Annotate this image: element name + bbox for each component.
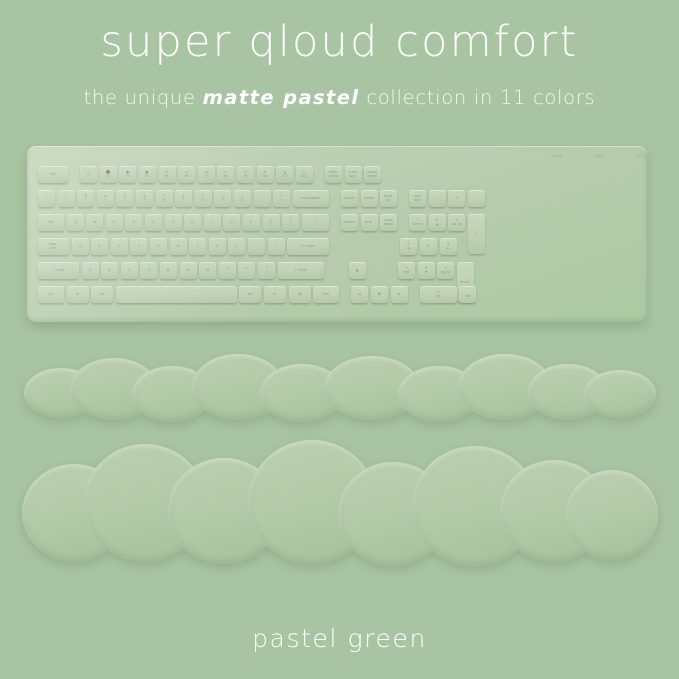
key-label: * [456, 197, 458, 201]
key-blank[interactable]: + [468, 214, 485, 254]
key-label: J [197, 245, 198, 249]
key-label: X [108, 269, 110, 273]
key-0-ins[interactable]: 0 ins [420, 286, 457, 303]
key-label: V [148, 269, 150, 273]
key-c[interactable]: C [121, 262, 138, 279]
key-v[interactable]: V [140, 262, 157, 279]
key-label: page up [384, 195, 392, 202]
key-enter[interactable]: ↵ enter [287, 238, 329, 255]
key-label: ⏮ f5 [165, 171, 168, 178]
key-label: Y [172, 221, 174, 225]
key-label: H [177, 245, 180, 249]
keyboard-product-image: ◦ num◦ caps◦ scroll esc♪ f1🔇 f2🔉 f3🔊 f4⏮… [27, 146, 647, 322]
key-label: alt [248, 293, 253, 297]
key-label: I [212, 221, 213, 225]
key-caps-lock[interactable]: caps lock [38, 238, 69, 255]
key-label: prtsc sysrq [329, 171, 338, 178]
key-label: W [93, 221, 97, 225]
key-blank[interactable]: ▲ [349, 262, 366, 279]
key-gap [410, 286, 417, 303]
key--f3[interactable]: 🔉 f3 [119, 166, 136, 183]
key-label: ⏭ f7 [205, 171, 208, 178]
key-l[interactable]: L [228, 238, 245, 255]
key-label: Q [74, 221, 77, 225]
key-label: . del [465, 291, 470, 298]
key--[interactable]: } ] [282, 214, 299, 231]
key-label: ? / [266, 267, 268, 274]
key-alt[interactable]: alt [91, 286, 113, 303]
led-caps-icon: ◦ caps [590, 153, 604, 158]
key-space[interactable] [116, 286, 237, 303]
key-page-down[interactable]: page down [380, 214, 397, 231]
key-label: 🔍 f11 [282, 171, 287, 178]
key-label: 4 ◄ [408, 243, 411, 250]
key-label: ▼ [378, 293, 381, 297]
key-m[interactable]: M [199, 262, 216, 279]
key-alt[interactable]: alt [239, 286, 261, 303]
key--5[interactable]: % 5 [136, 190, 153, 207]
key-label: ) 0 [241, 195, 243, 202]
key-label: ☀ f8 [224, 171, 227, 178]
key--2[interactable]: @ 2 [77, 190, 94, 207]
key--6[interactable]: ^ 6 [156, 190, 173, 207]
key-label: ⏯ f6 [185, 171, 188, 178]
key-2-[interactable]: 2 ▼ [418, 262, 435, 279]
key-label: @ 2 [84, 195, 87, 202]
key-label: T [152, 221, 154, 225]
key-label: ! 1 [65, 195, 67, 202]
key--f7[interactable]: ⏭ f7 [198, 166, 215, 183]
key-o[interactable]: O [223, 214, 240, 231]
key--0[interactable]: ) 0 [234, 190, 251, 207]
key-label: ♪ f1 [87, 171, 90, 178]
key--[interactable]: ? / [258, 262, 275, 279]
key-delete[interactable]: delete [341, 214, 358, 231]
key-label: Z [89, 269, 91, 273]
key-label: + [475, 232, 478, 236]
key-p[interactable]: P [243, 214, 260, 231]
key-label: ✉ f10 [262, 171, 267, 178]
key-blank[interactable]: ► [391, 286, 408, 303]
subtitle-prefix: the unique [84, 86, 203, 109]
colorway-caption: pastel green [0, 624, 679, 653]
key-label: ▤ [298, 293, 301, 297]
key-3-pgdn[interactable]: 3 pg dn [437, 262, 454, 279]
key--3[interactable]: # 3 [97, 190, 114, 207]
key-label: A [79, 245, 81, 249]
key-label: - [476, 197, 477, 201]
key-blank[interactable]: ▤ [289, 286, 311, 303]
key-fn[interactable]: fn [264, 286, 286, 303]
key--f12[interactable]: ⌂ f12 [296, 166, 313, 183]
key-label: : ; [256, 243, 257, 250]
key-label: 0 ins [436, 291, 441, 298]
page-title: super qloud comfort [0, 20, 679, 65]
key-label: * 8 [202, 195, 204, 202]
key-ctrl[interactable]: ctrl [38, 286, 64, 303]
key--[interactable]: > . [238, 262, 255, 279]
key--f2[interactable]: 🔇 f2 [100, 166, 117, 183]
key-label: delete [344, 221, 355, 225]
key-x[interactable]: X [101, 262, 118, 279]
key-1-end[interactable]: 1 end [398, 262, 415, 279]
key-gap [332, 238, 398, 255]
key-a[interactable]: A [72, 238, 89, 255]
key-label: E [113, 221, 115, 225]
key--[interactable]: ~ ` [38, 190, 55, 207]
key-label: ⊞ [76, 293, 79, 297]
key--9[interactable]: ( 9 [214, 190, 231, 207]
key-label: 6 ► [447, 243, 450, 250]
cloud-bump [584, 370, 656, 418]
key-label: / [437, 197, 438, 201]
key--f6[interactable]: ⏯ f6 [178, 166, 195, 183]
key-6-[interactable]: 6 ► [440, 238, 457, 255]
key-num-lock[interactable]: num lock [409, 190, 426, 207]
subtitle-suffix: collection in 11 colors [359, 86, 595, 109]
key-s[interactable]: S [91, 238, 108, 255]
key-label: alt [100, 293, 105, 297]
key-label: end [366, 221, 373, 225]
keyboard-row: esc♪ f1🔇 f2🔉 f3🔊 f4⏮ f5⏯ f6⏭ f7☀ f8☀ f9✉… [38, 166, 384, 183]
key--f9[interactable]: ☀ f9 [237, 166, 254, 183]
key-u[interactable]: U [184, 214, 201, 231]
key--[interactable]: < , [219, 262, 236, 279]
key-tab[interactable]: tab [38, 214, 64, 231]
key--f11[interactable]: 🔍 f11 [276, 166, 293, 183]
key-8-[interactable]: 8 ▲ [429, 214, 446, 231]
key--[interactable]: " ' [268, 238, 285, 255]
key-label: 8 ▲ [436, 219, 439, 226]
subtitle-emphasis: matte pastel [203, 86, 360, 109]
key-b[interactable]: B [160, 262, 177, 279]
key-w[interactable]: W [86, 214, 103, 231]
key-label: B [167, 269, 169, 273]
key--del[interactable]: . del [459, 286, 476, 303]
key-scroll-lock[interactable]: scroll lock [345, 166, 362, 183]
key-label: G [157, 245, 160, 249]
key-d[interactable]: D [111, 238, 128, 255]
key-label: O [230, 221, 233, 225]
subtitle: the unique matte pastel collection in 11… [0, 86, 679, 109]
key-label: 2 ▼ [425, 267, 428, 274]
key-shift[interactable]: ⇧ shift [38, 262, 79, 279]
key-label: | \ [315, 219, 316, 226]
key---[interactable]: _ - [254, 190, 271, 207]
key--7[interactable]: & 7 [175, 190, 192, 207]
key--f8[interactable]: ☀ f8 [217, 166, 234, 183]
key-label: & 7 [182, 195, 185, 202]
led-scroll-icon: ◦ scroll [631, 153, 647, 158]
key-gap [71, 166, 78, 183]
key-r[interactable]: R [125, 214, 142, 231]
key-label: F [138, 245, 140, 249]
key-label: home [364, 197, 374, 201]
key-label: num lock [414, 195, 421, 202]
key-label: scroll lock [349, 171, 358, 178]
key-gap [400, 190, 407, 207]
key-label: ► [398, 293, 401, 297]
key-esc[interactable]: esc [38, 166, 68, 183]
key-label: U [191, 221, 194, 225]
key-label: ☀ f9 [244, 171, 247, 178]
keyboard-row: ctrl⊞altaltfn▤ctrl◄▼►0 ins. del [38, 286, 479, 303]
key-label: ~ ` [45, 195, 48, 202]
key--[interactable]: | \ [302, 214, 329, 231]
key-blank[interactable]: * [448, 190, 465, 207]
cloud-bump [566, 470, 658, 560]
key-t[interactable]: T [145, 214, 162, 231]
key-label: ctrl [323, 293, 329, 297]
key-label: ◄ [358, 293, 361, 297]
key-f[interactable]: F [130, 238, 147, 255]
key-label: S [99, 245, 101, 249]
key-backspace[interactable]: backspace [293, 190, 329, 207]
key--[interactable]: - [468, 190, 485, 207]
key-label: % 5 [143, 195, 146, 202]
key-label: esc [50, 173, 56, 177]
key-label: _ - [261, 195, 263, 202]
key-gap [331, 190, 338, 207]
key-z[interactable]: Z [82, 262, 99, 279]
key-label: 1 end [403, 267, 409, 274]
key--f4[interactable]: 🔊 f4 [139, 166, 156, 183]
key--f10[interactable]: ✉ f10 [257, 166, 274, 183]
key-label: ↵ enter [301, 245, 315, 249]
key--f5[interactable]: ⏮ f5 [159, 166, 176, 183]
key-blank[interactable]: ⊞ [67, 286, 89, 303]
key-n[interactable]: N [180, 262, 197, 279]
keyboard-row: caps lockASDFGHJKL: ;" '↵ enter4 ◄56 ► [38, 238, 459, 255]
key--8[interactable]: * 8 [195, 190, 212, 207]
key-label: caps lock [50, 243, 58, 250]
key-label: fn [273, 293, 277, 297]
key-label: 5 [427, 245, 429, 249]
key-label: D [118, 245, 121, 249]
key-label: ⇧ shift [52, 269, 64, 273]
key-label: { [ [270, 219, 272, 226]
key-y[interactable]: Y [165, 214, 182, 231]
led-indicator-group: ◦ num◦ caps◦ scroll [549, 153, 646, 158]
key-label: 🔉 f3 [126, 171, 130, 178]
key-label: backspace [301, 197, 320, 201]
key-j[interactable]: J [189, 238, 206, 255]
key-gap [342, 286, 349, 303]
key-h[interactable]: H [170, 238, 187, 255]
key-gap [315, 166, 322, 183]
key-label: N [187, 269, 190, 273]
key-label: page down [384, 219, 393, 226]
key-shift[interactable]: ⇧ shift [278, 262, 324, 279]
key-end[interactable]: end [361, 214, 378, 231]
key--1[interactable]: ! 1 [58, 190, 75, 207]
key-label: } ] [290, 219, 292, 226]
led-num-icon: ◦ num [549, 153, 563, 158]
key--4[interactable]: $ 4 [116, 190, 133, 207]
key-label: M [206, 269, 209, 273]
key-label: + = [280, 195, 283, 202]
key-label: ( 9 [222, 195, 224, 202]
key-label: insert [344, 197, 354, 201]
key-label: L [236, 245, 238, 249]
key-9-pgup[interactable]: 9 pg up [448, 214, 465, 231]
key-g[interactable]: G [150, 238, 167, 255]
key-ctrl[interactable]: ctrl [313, 286, 339, 303]
key-pause-break[interactable]: pause break [364, 166, 381, 183]
key-label: P [250, 221, 252, 225]
product-banner: super qloud comfort the unique matte pas… [0, 0, 679, 679]
key-label: K [216, 245, 218, 249]
key-q[interactable]: Q [67, 214, 84, 231]
key--[interactable]: + = [273, 190, 290, 207]
keyboard-row: ~ `! 1@ 2# 3$ 4% 5^ 6& 7* 8( 9) 0_ -+ =b… [38, 190, 488, 207]
key-insert[interactable]: insert [341, 190, 358, 207]
key-label: 7 home [413, 219, 422, 226]
key-label: 9 pg up [452, 219, 462, 226]
key-5[interactable]: 5 [420, 238, 437, 255]
key-prtsc-sysrq[interactable]: prtsc sysrq [325, 166, 342, 183]
key-label: R [133, 221, 136, 225]
key-k[interactable]: K [209, 238, 226, 255]
key-label: tab [48, 221, 54, 225]
key-label: enter [460, 280, 470, 284]
key-label: ⇧ shift [294, 269, 306, 273]
key-label: ⌂ f12 [302, 171, 307, 178]
key-blank[interactable]: ▼ [371, 286, 388, 303]
key-e[interactable]: E [106, 214, 123, 231]
key-label: 3 pg dn [441, 267, 451, 274]
key-label: ▲ [356, 269, 359, 273]
key-label: ctrl [48, 293, 54, 297]
mouse-wrist-rest [22, 436, 658, 578]
key--[interactable]: { [ [263, 214, 280, 231]
keyboard-wrist-rest [24, 352, 656, 430]
key-label: " ' [275, 243, 277, 250]
key--[interactable]: : ; [248, 238, 265, 255]
key-4-[interactable]: 4 ◄ [400, 238, 417, 255]
key-home[interactable]: home [361, 190, 378, 207]
key-label: < , [226, 267, 229, 274]
key-label: pause break [368, 171, 378, 178]
key-label: ^ 6 [163, 195, 166, 202]
key-label: > . [245, 267, 248, 274]
key-label: $ 4 [124, 195, 126, 202]
key-label: 🔇 f2 [106, 171, 110, 178]
key-blank[interactable]: / [429, 190, 446, 207]
key-label: C [128, 269, 131, 273]
key-label: # 3 [104, 195, 107, 202]
key-7-home[interactable]: 7 home [409, 214, 426, 231]
key--f1[interactable]: ♪ f1 [80, 166, 97, 183]
key-page-up[interactable]: page up [380, 190, 397, 207]
key-label: 🔊 f4 [145, 171, 149, 178]
key-blank[interactable]: ◄ [351, 286, 368, 303]
key-i[interactable]: I [204, 214, 221, 231]
